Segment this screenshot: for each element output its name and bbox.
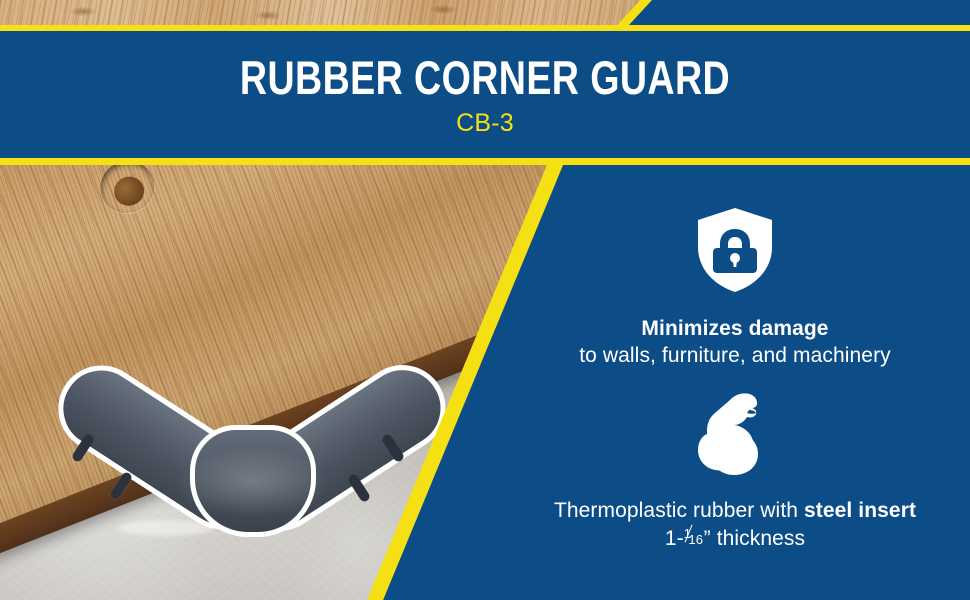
feature-2-emphasis: steel insert [804, 499, 916, 522]
shield-lock-icon [695, 207, 775, 293]
feature-2-suffix: ” thickness [704, 527, 805, 550]
feature-2-line-2: 1-116” thickness [500, 524, 970, 552]
header-band: RUBBER CORNER GUARD CB-3 [0, 31, 970, 158]
feature-item-1: Minimizes damage to walls, furniture, an… [500, 207, 970, 369]
feature-2-prefix: Thermoplastic rubber with [554, 499, 804, 522]
product-banner: RUBBER CORNER GUARD CB-3 [0, 0, 970, 600]
feature-1-text: Minimizes damage to walls, furniture, an… [500, 315, 970, 369]
page-title: RUBBER CORNER GUARD [97, 53, 873, 103]
feature-2-whole-number: 1- [665, 527, 684, 550]
header-yellow-rule [0, 158, 970, 165]
rubber-corner-guard [58, 275, 448, 545]
fraction-one-sixteenth: 116 [684, 524, 704, 545]
product-photo: We've Got It! [0, 165, 580, 600]
feature-1-detail: to walls, furniture, and machinery [500, 342, 970, 369]
feature-2-text: Thermoplastic rubber with steel insert 1… [500, 497, 970, 552]
deck-bolt-hole [93, 165, 162, 221]
model-number: CB-3 [0, 109, 970, 137]
top-blue-wedge [640, 0, 970, 25]
feature-item-2: Thermoplastic rubber with steel insert 1… [500, 390, 970, 552]
flexed-bicep-icon [694, 390, 776, 476]
feature-2-line-1: Thermoplastic rubber with steel insert [500, 497, 970, 524]
feature-1-headline: Minimizes damage [500, 315, 970, 342]
features-panel: Minimizes damage to walls, furniture, an… [500, 165, 970, 600]
top-wood-strip [0, 0, 970, 31]
top-wood-texture [0, 0, 640, 25]
fraction-denominator: 16 [688, 526, 703, 553]
